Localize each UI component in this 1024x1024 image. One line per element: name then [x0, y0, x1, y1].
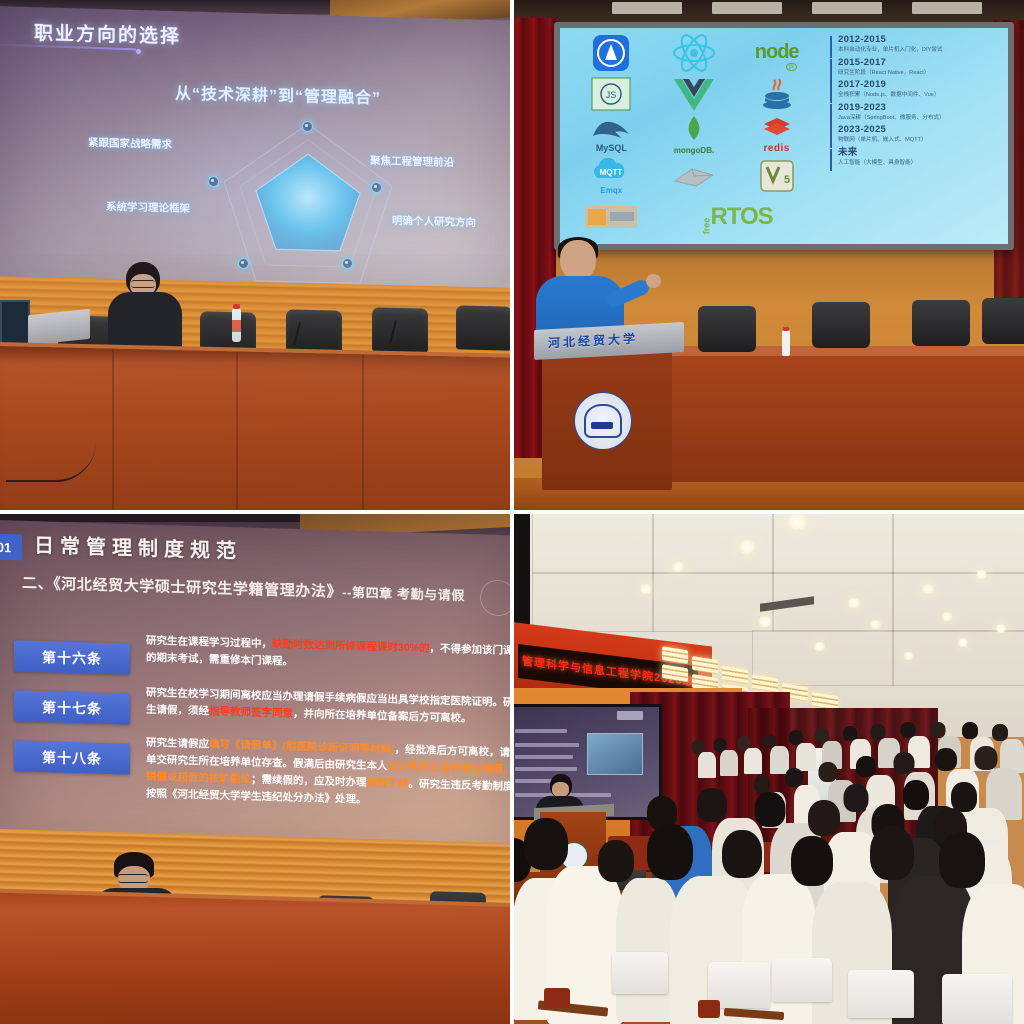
radar-label-3: 系统学习理论框架 [106, 199, 190, 216]
timeline-entry: 2015-2017 研究生阶段（React Native，React） [830, 57, 1008, 77]
audience [512, 722, 1024, 1024]
timeline-desc: 研究生阶段（React Native，React） [838, 69, 1008, 77]
article-label-16: 第十六条 [14, 640, 130, 674]
presenter-glasses [118, 874, 148, 883]
timeline-bar [830, 149, 832, 171]
radar-label-2: 明确个人研究方向 [392, 213, 476, 230]
timeline-entry: 2019-2023 Java深耕（SpringBoot、微服务、分布式） [830, 102, 1008, 122]
ceiling-light [940, 612, 954, 621]
freertos-icon: free RTOS [653, 197, 818, 238]
article-text-segment: 指导教师签字同意 [209, 705, 293, 719]
panel-career-direction-slide: 职业方向的选择 从“技术深耕”到“管理融合” 紧跟 [0, 0, 512, 512]
section-number-badge: 01 [0, 533, 22, 560]
article-text-segment: 缺勤时数达到所修课程课时30%的 [272, 638, 430, 654]
svg-text:5: 5 [784, 174, 790, 186]
photo-collage: 职业方向的选择 从“技术深耕”到“管理融合” 紧跟 [0, 0, 1024, 1024]
freertos-label: RTOS [710, 203, 772, 231]
ceiling-light [956, 638, 970, 647]
timeline-entry: 2023-2025 物联网（单片机、嵌入式、MQTT） [830, 124, 1008, 144]
timeline-entry: 2012-2015 本科自动化专业，单片机入门化，DIY尝试 [830, 34, 1008, 54]
chair [912, 300, 970, 346]
mqtt-emqx-icon: MQTT Emqx [570, 156, 653, 197]
timeline-year: 2023-2025 [838, 124, 1008, 135]
slide-title: 日常管理制度规范 [34, 529, 242, 564]
nodejs-label: node [755, 41, 799, 63]
article-text-segment: ，并向所在培养单位备案后方可离校。 [293, 708, 472, 725]
emqx-label: Emqx [588, 186, 634, 195]
ceiling-panel [712, 2, 782, 14]
mysql-label: MySQL [590, 143, 632, 153]
radar-label-1: 聚焦工程管理前沿 [370, 153, 454, 170]
presenter-glasses [131, 280, 155, 288]
nodejs-icon: node js [735, 32, 818, 73]
slide-logo [617, 711, 643, 720]
svg-text:JS: JS [606, 90, 617, 100]
ceiling-light [994, 624, 1008, 633]
js-emblem-icon: JS [570, 73, 653, 114]
timeline-desc: 本科自动化专业，单片机入门化，DIY尝试 [838, 46, 1008, 54]
ceiling-panel [912, 2, 982, 14]
svg-text:MQTT: MQTT [600, 168, 623, 177]
grid-divider-horizontal [0, 510, 1024, 514]
title-dot [136, 49, 141, 54]
mongodb-icon: mongoDB. [653, 114, 736, 155]
article-label-17: 第十七条 [14, 690, 130, 724]
ceiling-light [784, 514, 810, 530]
chair [812, 302, 870, 348]
radar-node-bottom-left [238, 258, 249, 269]
ceiling-light [812, 642, 827, 651]
nodejs-sub-label: js [786, 63, 796, 71]
timeline-year: 未来 [838, 147, 1008, 158]
timeline-bar [830, 104, 832, 126]
article-body-18: 研究生请假应填写《请假单》(附医院诊断证明等材料)，经批准后方可离校，请假单交研… [146, 735, 512, 814]
radar-node-top [302, 121, 313, 132]
speaker-head [560, 240, 596, 280]
subtitle-suffix: --第四章 考勤与请假 [342, 585, 465, 603]
ceiling-light [756, 616, 774, 627]
presenter-table [0, 346, 512, 512]
timeline-desc: 人工智能（大模型、具身智能） [838, 159, 1008, 167]
article-text-segment: 填写《请假单》(附医院诊断证明等材料) [209, 738, 395, 755]
presenter-table [0, 892, 512, 1024]
chair [456, 305, 512, 350]
app-store-icon [570, 32, 653, 73]
chair [698, 306, 756, 352]
subtitle-prefix: 二、 [22, 575, 53, 593]
device-icon [570, 197, 653, 238]
article-label-18: 第十八条 [14, 740, 130, 774]
timeline-year: 2012-2015 [838, 34, 1008, 45]
vue-icon [653, 73, 736, 114]
java-icon [735, 73, 818, 114]
ceiling-panel [612, 2, 682, 14]
ceiling-light [736, 540, 758, 554]
freertos-free-label: free [701, 218, 711, 235]
chair [372, 307, 428, 352]
panel-auditorium-audience: 管理科学与信息工程学院2025级研究生开学典礼 [512, 512, 1024, 1024]
redis-icon: redis [735, 114, 818, 155]
university-emblem [574, 392, 632, 450]
radar-label-0: 紧跟国家战略需求 [88, 135, 172, 152]
ceiling-light [920, 584, 936, 594]
seat [848, 970, 914, 1018]
tech-timeline: 2012-2015 本科自动化专业，单片机入门化，DIY尝试 2015-2017… [830, 34, 1008, 169]
panel-tech-stack-slide: node js JS MySQL [512, 0, 1024, 512]
timeline-bar [830, 36, 832, 58]
timeline-entry: 未来 人工智能（大模型、具身智能） [830, 147, 1008, 167]
seat [612, 952, 668, 994]
seated-presenter [108, 262, 182, 358]
article-text-segment: 续假手续 [367, 777, 409, 790]
article-text-segment: 研究生在课程学习过程中， [146, 635, 272, 651]
slide-subtitle: 从“技术深耕”到“管理融合” [175, 80, 381, 109]
timeline-year: 2017-2019 [838, 79, 1008, 90]
ceiling-light [902, 652, 915, 660]
mysql-icon: MySQL [570, 114, 653, 155]
redis-label: redis [762, 143, 792, 154]
react-icon [653, 32, 736, 73]
timeline-year: 2015-2017 [838, 57, 1008, 68]
article-text-segment: 研究生请假应 [146, 737, 209, 751]
chair [982, 298, 1024, 344]
radar-node-left [208, 176, 219, 187]
radar-node-right [371, 182, 382, 193]
timeline-desc: 全栈积累（Node.js、数据中间件、Vue） [838, 91, 1008, 99]
panel-management-rules-slide: 01 日常管理制度规范 二、《河北经贸大学硕士研究生学籍管理办法》--第四章 考… [0, 512, 512, 1024]
ceiling-panel [812, 2, 882, 14]
ceiling-light [670, 562, 686, 572]
slide-title: 职业方向的选择 [34, 18, 181, 49]
conference-bench [672, 352, 1024, 482]
mongodb-label: mongoDB. [674, 146, 714, 155]
timeline-bar [830, 59, 832, 81]
timeline-desc: Java深耕（SpringBoot、微服务、分布式） [838, 114, 1008, 122]
tech-logo-grid: node js JS MySQL [570, 32, 818, 238]
timeline-bar [830, 81, 832, 103]
speaker-hand [646, 274, 661, 288]
html5-vue-icon: 5 [735, 156, 818, 197]
ceiling-light [974, 570, 989, 579]
article-text-segment: ；需续假的，应及时办理 [251, 774, 367, 789]
timeline-bar [830, 126, 832, 148]
book-icon [653, 156, 736, 197]
water-bottle [782, 330, 790, 356]
ceiling-light [868, 620, 883, 629]
ceiling-light [638, 584, 654, 594]
seat [942, 974, 1012, 1024]
water-bottle [232, 308, 241, 342]
seat [772, 958, 832, 1002]
timeline-entry: 2017-2019 全栈积累（Node.js、数据中间件、Vue） [830, 79, 1008, 99]
timeline-desc: 物联网（单片机、嵌入式、MQTT） [838, 136, 1008, 144]
radar-node-bottom-right [342, 258, 353, 269]
ceiling-light [846, 598, 862, 608]
timeline-year: 2019-2023 [838, 102, 1008, 113]
